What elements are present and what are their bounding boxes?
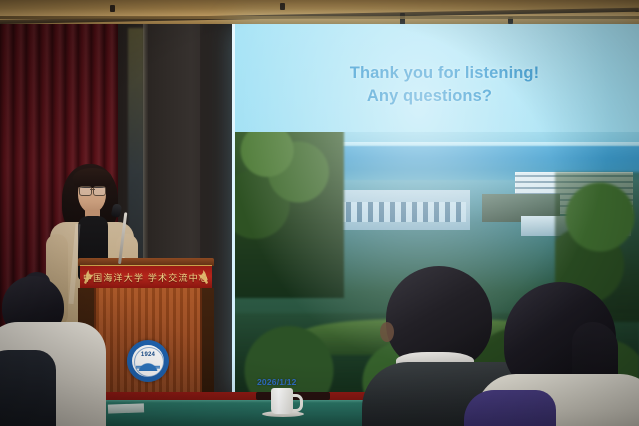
university-emblem-icon: 1924 xyxy=(127,340,169,382)
emblem-wave-icon xyxy=(136,359,160,371)
audience-member-left xyxy=(0,276,106,426)
audience-member-right xyxy=(494,282,639,426)
ear xyxy=(380,322,394,342)
banner-ornament-icon xyxy=(196,269,210,285)
presentation-room-photo: Thank you for listening! Any questions? … xyxy=(0,0,639,426)
tree-foliage-left xyxy=(232,132,344,298)
slide-title-line-1: Thank you for listening! xyxy=(232,62,621,85)
screen-left-edge xyxy=(232,24,235,399)
beam-bolt xyxy=(280,3,285,10)
presenter-fringe xyxy=(73,168,112,188)
paper-on-table xyxy=(108,403,144,413)
beam-bolt xyxy=(508,17,513,24)
ceiling-rail xyxy=(0,8,639,24)
emblem-inner: 1924 xyxy=(132,345,164,377)
glasses-icon xyxy=(79,186,106,194)
dark-coat xyxy=(0,350,56,426)
purple-garment xyxy=(464,390,556,426)
coffee-mug xyxy=(271,388,293,414)
podium-front-panel: 1924 xyxy=(94,288,202,408)
beam-bolt xyxy=(110,5,115,12)
slide-date-stamp: 2026/1/12 xyxy=(257,377,297,387)
slide-title: Thank you for listening! Any questions? xyxy=(232,62,639,109)
slide-title-line-2: Any questions? xyxy=(232,85,621,108)
emblem-year: 1924 xyxy=(132,352,164,358)
